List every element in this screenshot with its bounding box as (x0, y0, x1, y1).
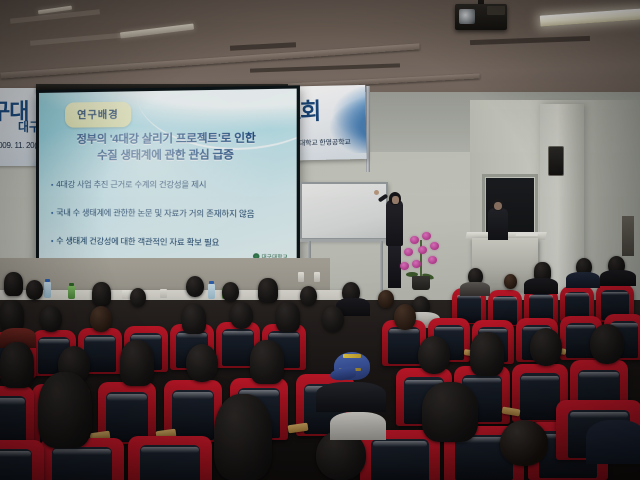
bullet-marker: ▪ (51, 182, 53, 189)
audience-shoulders (460, 282, 490, 296)
paper-cup (314, 272, 320, 282)
paper-cup (298, 272, 304, 282)
slide-bullet-text: 국내 수 생태계에 관한한 논문 및 자료가 거의 존재하지 않음 (56, 208, 254, 219)
orchid-flower (418, 246, 427, 254)
lecture-hall-photo: 구대 대구 2009. 11. 20(금) 발표회 표회 대구대학교 한영공학교… (0, 0, 640, 480)
auditorium-seat[interactable] (0, 386, 34, 448)
seated-audience-member (422, 382, 478, 442)
seated-audience-member (186, 344, 218, 382)
seated-audience-member (182, 304, 206, 334)
banner-pole (366, 86, 370, 172)
auditorium-seat[interactable] (0, 440, 44, 480)
whiteboard-tray (300, 239, 388, 242)
water-bottle (44, 282, 51, 298)
seated-audience-member (590, 324, 624, 364)
slide-headline-line1: 정부의 '4대강 살리기 프로젝트'로 인한 (39, 129, 297, 147)
slide-bullet-text: 수 생태계 건강성에 대한 객관적인 자료 확보 필요 (56, 236, 219, 247)
seated-audience-member (378, 290, 394, 308)
whiteboard-leg (380, 241, 383, 291)
bullet-marker: ▪ (51, 210, 53, 217)
presenter-face (392, 196, 399, 204)
seated-audience-member (38, 372, 92, 448)
orchid-flower (410, 236, 419, 244)
seated-audience-member (222, 282, 239, 302)
slide-bullet-text: 4대강 사업 추진 근거로 수계의 건강성을 제시 (56, 180, 206, 189)
bottle-cap (209, 281, 214, 284)
paper-cup (160, 289, 167, 298)
projection-screen: 연구배경 정부의 '4대강 살리기 프로젝트'로 인한 수질 생태계에 관한 관… (39, 89, 297, 268)
green-beverage-bottle (68, 286, 75, 299)
seated-audience-member (92, 282, 111, 306)
seated-audience-member (90, 306, 112, 332)
seated-audience-member (500, 420, 548, 466)
orchid-flower (430, 242, 439, 250)
seated-audience-member (418, 336, 450, 374)
seated-audience-member (250, 340, 284, 384)
slide-headline-line2: 수질 생태계에 관한 관심 급증 (39, 145, 297, 163)
wall-panel (622, 216, 634, 256)
slide-bullet: ▪4대강 사업 추진 근거로 수계의 건강성을 제시 (51, 179, 206, 190)
slide-title-text: 연구배경 (77, 110, 119, 122)
orchid-flower (422, 232, 431, 240)
seated-audience-member (26, 280, 43, 300)
orchid-flower (412, 260, 421, 268)
seated-audience-member (0, 342, 34, 388)
orchid-flower (428, 256, 437, 264)
seated-audience-member (120, 340, 154, 386)
audience-shoulders (316, 382, 386, 412)
ceiling-projector (455, 4, 507, 30)
orchid-flower (404, 248, 413, 256)
seated-audience-member (4, 272, 23, 296)
cap-logo (343, 354, 361, 358)
audience-shoulders (600, 270, 636, 286)
audience-shoulders (330, 412, 386, 440)
orchid-pot (412, 276, 430, 290)
seated-audience-member (276, 302, 300, 332)
bottle-cap (45, 279, 50, 282)
person-at-lectern-face (494, 202, 502, 210)
water-bottle (208, 284, 215, 299)
paper-cup (122, 290, 130, 299)
seated-audience-member (394, 304, 416, 330)
audience-shoulders (566, 272, 600, 288)
audience-shoulders (586, 420, 640, 464)
person-at-lectern (488, 208, 508, 240)
seated-audience-member (504, 274, 517, 289)
slide-bullet: ▪수 생태계 건강성에 대한 객관적인 자료 확보 필요 (51, 235, 219, 248)
seated-audience-member (186, 276, 204, 297)
projection-screen-frame: 연구배경 정부의 '4대강 살리기 프로젝트'로 인한 수질 생태계에 관한 관… (36, 85, 300, 270)
audience-shoulders (524, 278, 558, 294)
slide-bullet: ▪국내 수 생태계에 관한한 논문 및 자료가 거의 존재하지 않음 (51, 207, 254, 220)
slide-title-box: 연구배경 (65, 102, 131, 128)
presenter-torso (386, 200, 403, 246)
seated-audience-member (300, 286, 317, 306)
projector-body (487, 6, 505, 15)
seated-audience-member (40, 306, 62, 332)
orchid-flower (400, 262, 409, 270)
projector-lens (459, 9, 475, 24)
auditorium-seat[interactable] (128, 436, 212, 480)
blue-baseball-cap (330, 352, 374, 386)
wall-speaker (548, 146, 564, 176)
seated-audience-member (470, 332, 504, 376)
seated-audience-member (258, 278, 278, 303)
seated-audience-member (230, 302, 253, 329)
seated-audience-member (530, 328, 562, 366)
seated-audience-member (214, 394, 272, 480)
presenter-hand (374, 190, 379, 195)
bottle-cap (69, 283, 74, 286)
lectern-papers (516, 232, 539, 236)
bullet-marker: ▪ (51, 238, 53, 245)
seated-audience-member (130, 288, 146, 307)
seated-audience-member (322, 306, 344, 332)
